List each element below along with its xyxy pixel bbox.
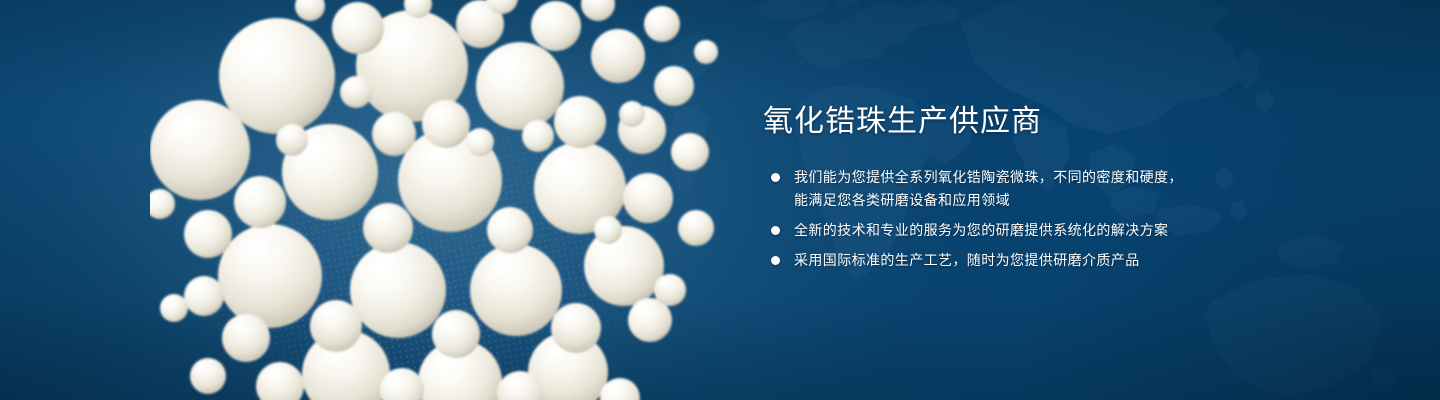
list-item-line: 全新的技术和专业的服务为您的研磨提供系统化的解决方案 [794, 219, 1363, 242]
list-item-line: 我们能为您提供全系列氧化锆陶瓷微珠，不同的密度和硬度， [794, 166, 1363, 189]
page-title: 氧化锆珠生产供应商 [763, 104, 1363, 140]
list-item: 采用国际标准的生产工艺，随时为您提供研磨介质产品 [763, 249, 1363, 272]
bullet-dot-icon [771, 226, 780, 235]
list-item: 我们能为您提供全系列氧化锆陶瓷微珠，不同的密度和硬度， 能满足您各类研磨设备和应… [763, 166, 1363, 212]
banner-copy: 氧化锆珠生产供应商 我们能为您提供全系列氧化锆陶瓷微珠，不同的密度和硬度， 能满… [763, 104, 1363, 272]
zirconia-bead-cluster-image [150, 0, 770, 400]
list-item-line: 采用国际标准的生产工艺，随时为您提供研磨介质产品 [794, 249, 1363, 272]
hero-banner: 氧化锆珠生产供应商 我们能为您提供全系列氧化锆陶瓷微珠，不同的密度和硬度， 能满… [0, 0, 1440, 400]
bullet-dot-icon [771, 256, 780, 265]
list-item-line: 能满足您各类研磨设备和应用领域 [794, 189, 1363, 212]
list-item: 全新的技术和专业的服务为您的研磨提供系统化的解决方案 [763, 219, 1363, 242]
feature-list: 我们能为您提供全系列氧化锆陶瓷微珠，不同的密度和硬度， 能满足您各类研磨设备和应… [763, 166, 1363, 272]
bullet-dot-icon [771, 173, 780, 182]
